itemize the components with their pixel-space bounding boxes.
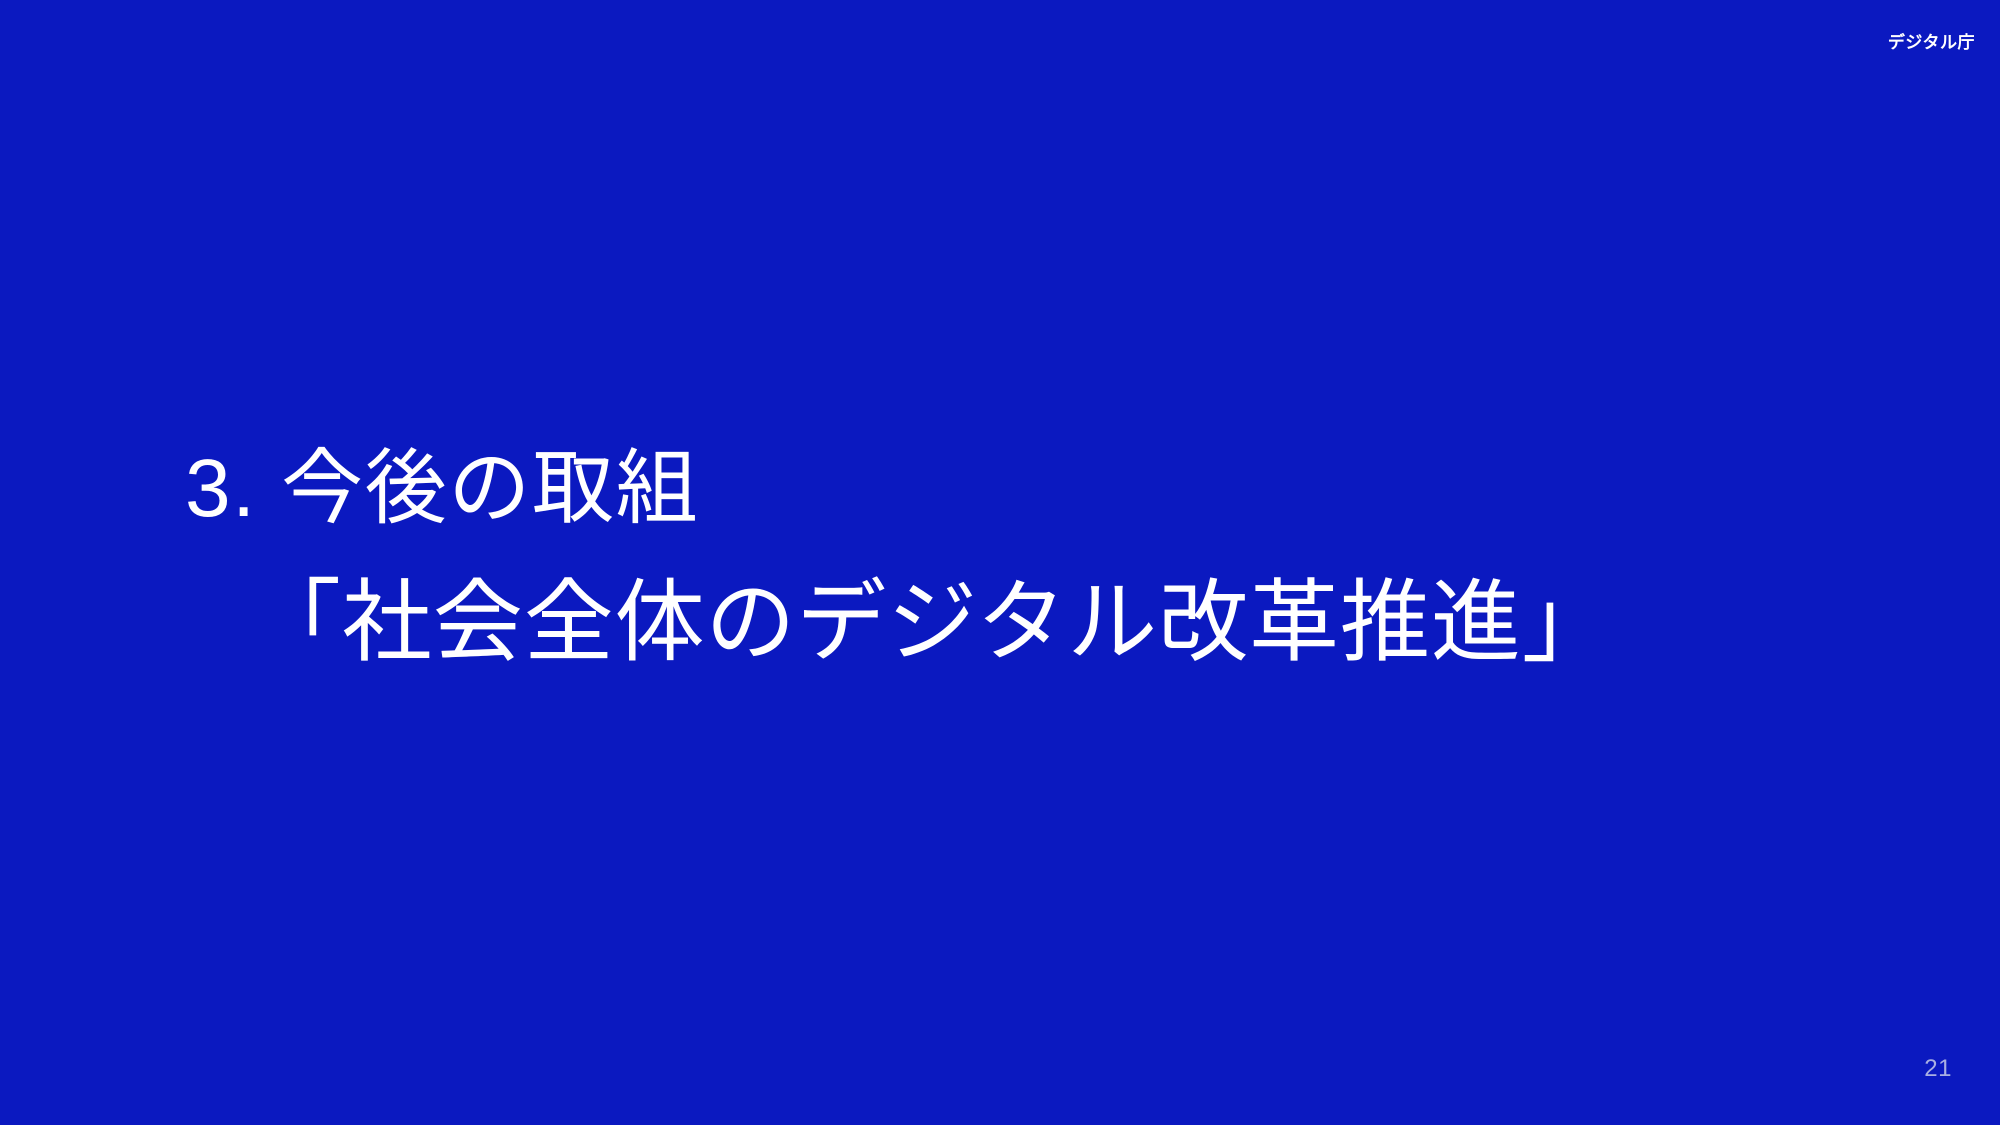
section-title-line-2: 「社会全体のデジタル改革推進」 — [185, 578, 1885, 668]
section-divider-slide: デジタル庁 3. 今後の取組 「社会全体のデジタル改革推進」 21 — [0, 0, 2000, 1125]
section-title-line-1: 3. 今後の取組 — [185, 448, 1885, 530]
digital-agency-logo: デジタル庁 — [1888, 33, 1975, 53]
section-title-block: 3. 今後の取組 「社会全体のデジタル改革推進」 — [185, 448, 1885, 668]
page-number: 21 — [1924, 1055, 1952, 1083]
